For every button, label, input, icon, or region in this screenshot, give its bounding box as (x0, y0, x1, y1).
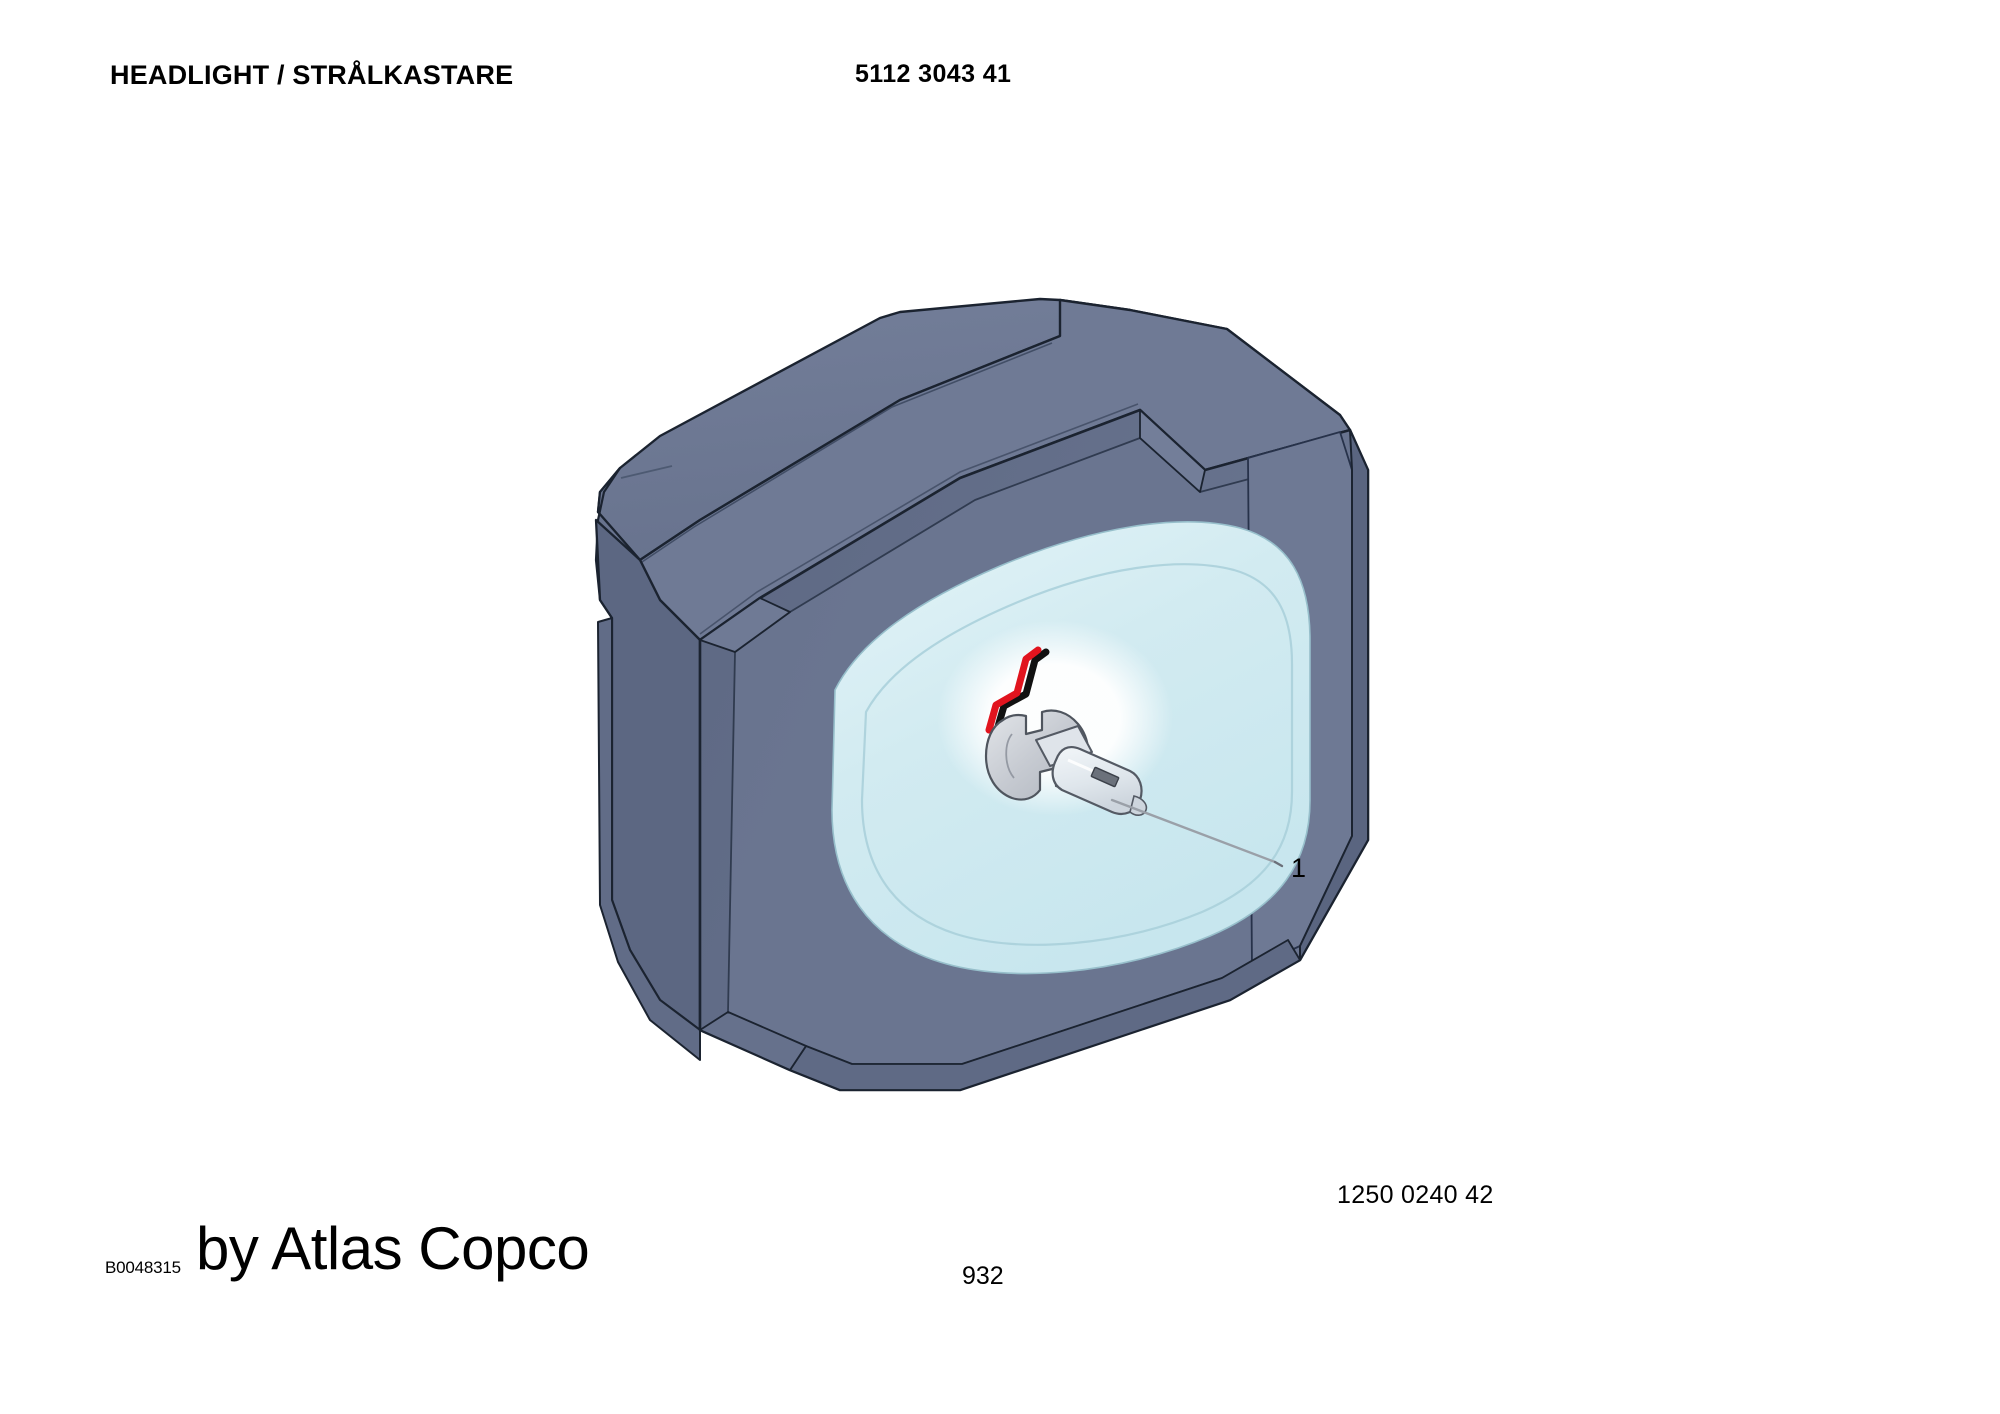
headlight-assembly-illustration (0, 0, 2000, 1414)
headlight-housing (596, 299, 1368, 1090)
callout-label-1: 1 (1291, 855, 1306, 882)
atlas-copco-logo-text: by Atlas Copco (196, 1219, 589, 1279)
document-number: 1250 0240 42 (1337, 1181, 1494, 1210)
halogen-bulb-assembly (937, 620, 1173, 816)
drawing-code: B0048315 (105, 1258, 181, 1278)
parts-catalog-page: HEADLIGHT / STRÅLKASTARE 5112 3043 41 (0, 0, 2000, 1414)
page-number: 932 (962, 1262, 1004, 1291)
